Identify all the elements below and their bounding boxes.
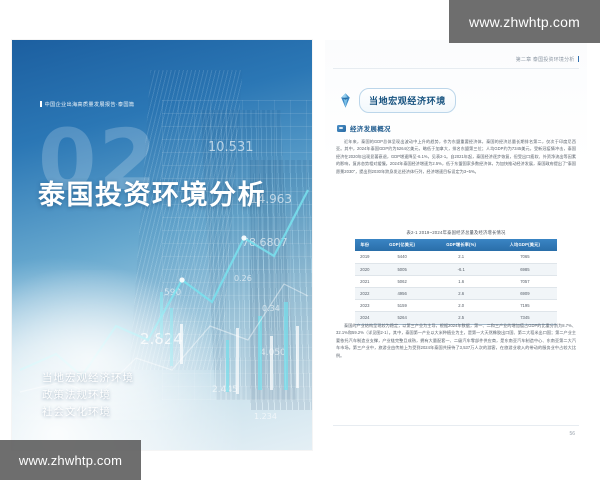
section-title-label: 当地宏观经济环境	[369, 96, 446, 106]
table-row: 2019 5440 2.1 7065	[355, 251, 557, 263]
table-cell-percapita: 7065	[493, 251, 557, 263]
table-cell-growth: 1.6	[430, 275, 493, 287]
table-header-row: 年份 GDP(亿美元) GDP增长率(%) 人均GDP(美元)	[355, 239, 557, 251]
cover-subitem: 政策法规环境	[42, 387, 134, 404]
cover-kicker-label: 中国企业出海高质量发展报告·泰国篇	[45, 102, 135, 108]
table-cell-gdp: 4956	[375, 287, 430, 299]
table-cell-gdp: 5440	[375, 251, 430, 263]
table-cell-gdp: 5159	[375, 300, 430, 312]
watermark-top-right-label: www.zhwhtp.com	[469, 14, 580, 30]
cover-subitem-list: 当地宏观经济环境 政策法规环境 社会文化环境	[42, 370, 134, 421]
page-running-header: 第二章 泰国投资环境分析	[516, 56, 579, 63]
body-paragraph-1: 近年来，泰国的GDP总体呈现出波动中上升的趋势，作为东盟重要经济体，泰国的经济总…	[336, 138, 576, 175]
table-column-header: 年份	[355, 239, 375, 251]
section-title-pill: 当地宏观经济环境	[359, 88, 456, 113]
cover-subitem: 社会文化环境	[42, 404, 134, 421]
kicker-bar-icon	[40, 101, 42, 107]
subsection-marker-icon	[337, 125, 346, 132]
cover-page: 10.531 14.963 78.6807 2.824 4.050 2.445 …	[12, 40, 312, 450]
gem-icon	[337, 92, 354, 109]
subsection-title-label: 经济发展概况	[350, 123, 391, 133]
table-cell-growth: 2.0	[430, 300, 493, 312]
table-cell-gdp: 5005	[375, 263, 430, 275]
table-cell-year: 2019	[355, 251, 375, 263]
table-column-header: GDP增长率(%)	[430, 239, 493, 251]
table-cell-year: 2023	[355, 300, 375, 312]
table-column-header: 人均GDP(美元)	[493, 239, 557, 251]
table-cell-percapita: 6909	[493, 287, 557, 299]
header-divider	[333, 68, 579, 69]
body-paragraph-2: 泰国的产业结构呈现较为稳定，以第三产业为主导，根据2024年数据，第一、二和三产…	[336, 322, 576, 359]
page-number: 56	[569, 431, 575, 437]
table-cell-percapita: 7057	[493, 275, 557, 287]
table-cell-year: 2022	[355, 287, 375, 299]
table-column-header: GDP(亿美元)	[375, 239, 430, 251]
header-bar-icon	[578, 56, 580, 62]
table-caption: 表2-1 2019~2024年泰国经济总量及经济增长情况	[325, 230, 587, 236]
table-cell-gdp: 5062	[375, 275, 430, 287]
section-heading: 当地宏观经济环境	[337, 88, 456, 113]
cover-kicker: 中国企业出海高质量发展报告·泰国篇	[40, 101, 134, 108]
cover-title: 泰国投资环境分析	[38, 173, 266, 212]
table-row: 2022 4956 2.6 6909	[355, 287, 557, 299]
watermark-top-right: www.zhwhtp.com	[449, 0, 600, 43]
watermark-bottom-left: www.zhwhtp.com	[0, 440, 141, 480]
content-page: 第二章 泰国投资环境分析 当地宏观经济环境 经济发展概况 近年来，泰国的GDP总…	[325, 40, 587, 450]
table-cell-growth: -6.1	[430, 263, 493, 275]
subsection-heading: 经济发展概况	[337, 123, 391, 133]
watermark-bottom-left-label: www.zhwhtp.com	[19, 453, 122, 468]
table-cell-growth: 2.6	[430, 287, 493, 299]
table-row: 2023 5159 2.0 7195	[355, 300, 557, 312]
page-header-label: 第二章 泰国投资环境分析	[516, 57, 575, 63]
table-row: 2020 5005 -6.1 6985	[355, 263, 557, 275]
table-row: 2021 5062 1.6 7057	[355, 275, 557, 287]
table-cell-year: 2020	[355, 263, 375, 275]
table-cell-year: 2021	[355, 275, 375, 287]
table-cell-growth: 2.1	[430, 251, 493, 263]
document-preview: 10.531 14.963 78.6807 2.824 4.050 2.445 …	[0, 0, 600, 480]
footer-divider	[333, 425, 579, 426]
table-cell-percapita: 6985	[493, 263, 557, 275]
table-cell-percapita: 7195	[493, 300, 557, 312]
cover-subitem: 当地宏观经济环境	[42, 370, 134, 387]
gdp-table: 年份 GDP(亿美元) GDP增长率(%) 人均GDP(美元) 2019 544…	[355, 239, 557, 325]
